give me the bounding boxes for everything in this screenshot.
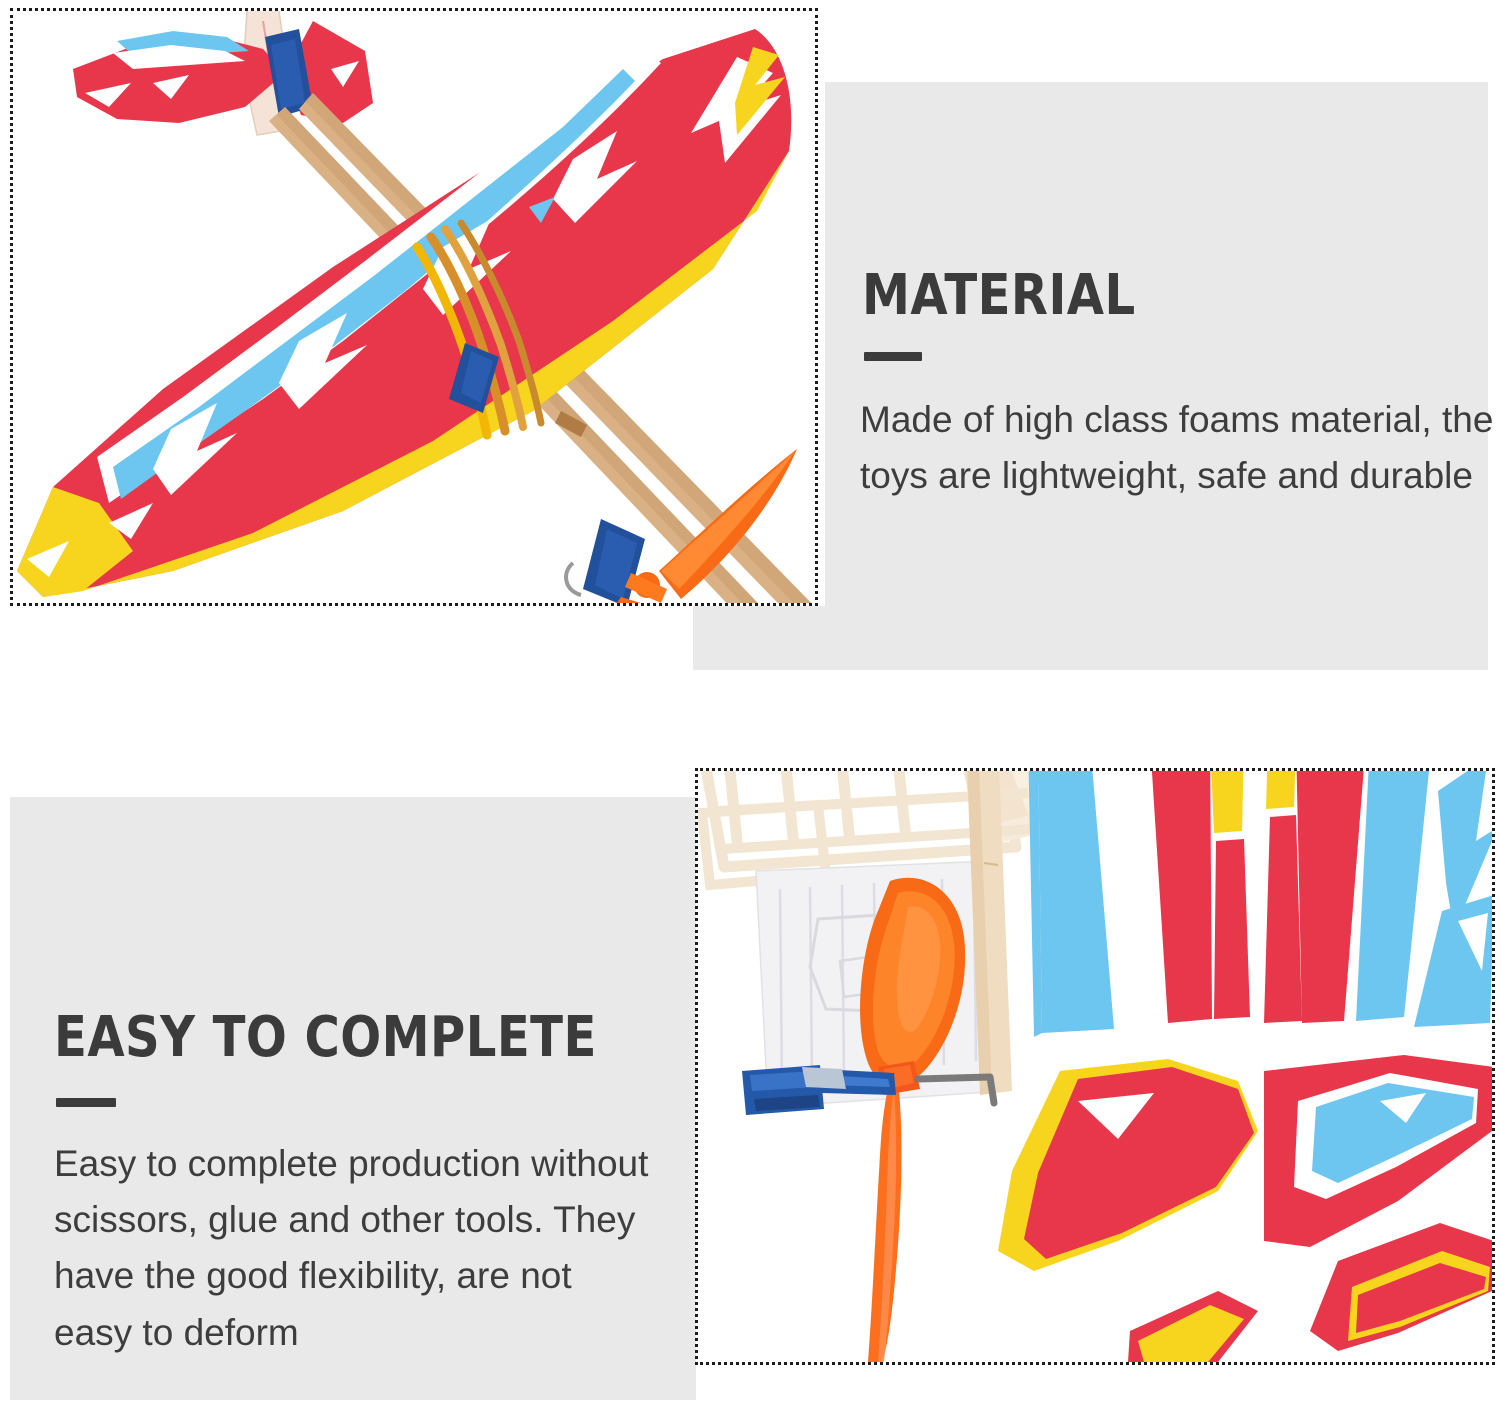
easy-to-complete-heading-rule [56,1098,116,1107]
material-heading: MATERIAL [862,268,1136,324]
easy-to-complete-body-text: Easy to complete production without scis… [54,1136,654,1361]
material-panel-extension [693,606,1488,670]
easy-to-complete-heading: EASY TO COMPLETE [54,1010,597,1066]
hero-photo-frame [10,8,818,606]
material-heading-rule [864,352,922,361]
parts-photo-frame [695,768,1495,1365]
material-body-text: Made of high class foams material, the t… [860,392,1500,504]
material-panel [825,82,1488,606]
